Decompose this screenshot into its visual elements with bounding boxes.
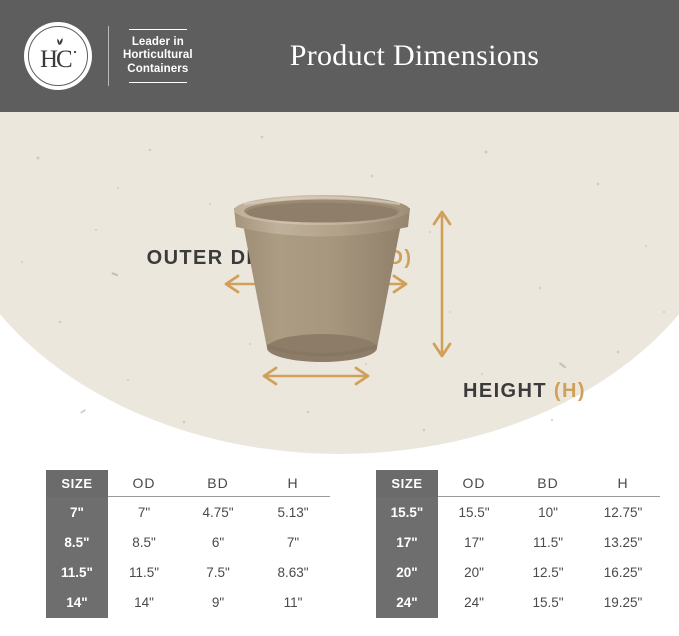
height-dimension-abbr: (H) <box>554 380 586 402</box>
cell-od: 14" <box>108 588 180 618</box>
cell-size: 8.5" <box>46 528 108 558</box>
table-row: 11.5" 11.5" 7.5" 8.63" <box>46 558 330 588</box>
logo-divider <box>108 26 109 86</box>
dimension-table-small-sizes: SIZE OD BD H 7" 7" 4.75" 5.13" 8.5" 8.5"… <box>46 470 330 618</box>
cell-h: 13.25" <box>586 528 660 558</box>
brand-logo: H C Leader in Horticultural Containers <box>24 22 193 90</box>
tagline-line-3: Containers <box>123 63 193 77</box>
cell-h: 12.75" <box>586 497 660 528</box>
cell-bd: 12.5" <box>510 558 586 588</box>
column-header-od: OD <box>438 470 510 497</box>
hc-leaf-logo-icon: H C <box>24 22 92 90</box>
cell-h: 16.25" <box>586 558 660 588</box>
dimension-table-large-sizes: SIZE OD BD H 15.5" 15.5" 10" 12.75" 17" … <box>376 470 660 618</box>
cell-od: 7" <box>108 497 180 528</box>
cell-size: 20" <box>376 558 438 588</box>
column-header-bd: BD <box>510 470 586 497</box>
diagram-panel: OUTER DIMENSION (OD) <box>0 112 679 457</box>
cell-od: 17" <box>438 528 510 558</box>
table-row: 7" 7" 4.75" 5.13" <box>46 497 330 528</box>
table-header-row: SIZE OD BD H <box>376 470 660 497</box>
cell-bd: 10" <box>510 497 586 528</box>
table-row: 17" 17" 11.5" 13.25" <box>376 528 660 558</box>
column-header-od: OD <box>108 470 180 497</box>
height-dimension-text: HEIGHT <box>463 380 554 402</box>
cell-od: 8.5" <box>108 528 180 558</box>
cell-od: 20" <box>438 558 510 588</box>
column-header-bd: BD <box>180 470 256 497</box>
cell-bd: 11.5" <box>510 528 586 558</box>
column-header-size: SIZE <box>46 470 108 497</box>
table-row: 20" 20" 12.5" 16.25" <box>376 558 660 588</box>
table-header-row: SIZE OD BD H <box>46 470 330 497</box>
brand-tagline: Leader in Horticultural Containers <box>123 29 193 84</box>
cell-od: 11.5" <box>108 558 180 588</box>
cell-h: 7" <box>256 528 330 558</box>
cell-od: 24" <box>438 588 510 618</box>
cell-size: 14" <box>46 588 108 618</box>
dimension-tables: SIZE OD BD H 7" 7" 4.75" 5.13" 8.5" 8.5"… <box>0 470 679 636</box>
svg-text:C: C <box>56 46 73 73</box>
column-header-h: H <box>586 470 660 497</box>
cell-bd: 6" <box>180 528 256 558</box>
column-header-size: SIZE <box>376 470 438 497</box>
table-row: 8.5" 8.5" 6" 7" <box>46 528 330 558</box>
height-dimension-arrow-icon <box>430 204 454 364</box>
cell-size: 7" <box>46 497 108 528</box>
planter-pot-illustration <box>222 194 422 379</box>
cell-size: 17" <box>376 528 438 558</box>
tagline-line-1: Leader in <box>123 36 193 50</box>
cell-h: 5.13" <box>256 497 330 528</box>
table-row: 15.5" 15.5" 10" 12.75" <box>376 497 660 528</box>
height-dimension-label: HEIGHT (H) <box>463 380 586 403</box>
base-dimension-arrow-icon <box>256 364 376 388</box>
header-bar: H C Leader in Horticultural Containers P… <box>0 0 679 112</box>
cell-bd: 4.75" <box>180 497 256 528</box>
cell-size: 11.5" <box>46 558 108 588</box>
cell-size: 24" <box>376 588 438 618</box>
column-header-h: H <box>256 470 330 497</box>
table-row: 24" 24" 15.5" 19.25" <box>376 588 660 618</box>
cell-h: 8.63" <box>256 558 330 588</box>
cell-h: 19.25" <box>586 588 660 618</box>
cell-size: 15.5" <box>376 497 438 528</box>
hc-monogram-icon: H C <box>32 30 84 82</box>
table-row: 14" 14" 9" 11" <box>46 588 330 618</box>
cell-h: 11" <box>256 588 330 618</box>
cell-bd: 7.5" <box>180 558 256 588</box>
cell-od: 15.5" <box>438 497 510 528</box>
tagline-line-2: Horticultural <box>123 49 193 63</box>
cell-bd: 9" <box>180 588 256 618</box>
cell-bd: 15.5" <box>510 588 586 618</box>
